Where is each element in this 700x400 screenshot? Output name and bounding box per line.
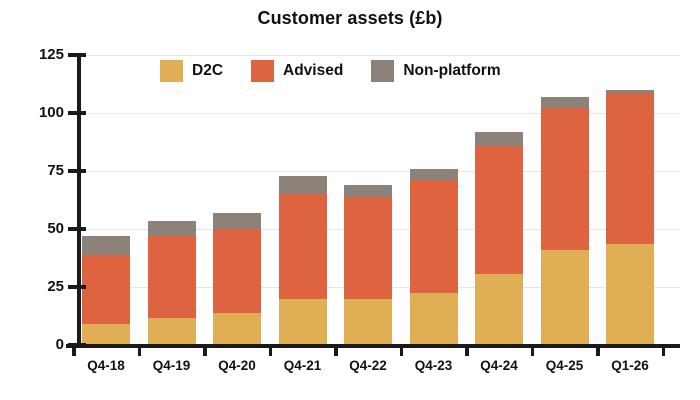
gridline <box>80 113 680 114</box>
bar-segment-advised[interactable] <box>148 236 196 318</box>
bar-stack[interactable] <box>148 221 196 345</box>
bar-stack[interactable] <box>410 169 458 345</box>
bar-segment-d2c[interactable] <box>82 324 130 345</box>
bar-stack[interactable] <box>279 176 327 345</box>
bar-segment-advised[interactable] <box>82 255 130 325</box>
bar-stack[interactable] <box>475 132 523 345</box>
bar-segment-advised[interactable] <box>344 197 392 299</box>
x-axis-tick-label: Q4-20 <box>202 358 272 373</box>
bar-segment-d2c[interactable] <box>475 274 523 345</box>
chart-container: Customer assets (£b) D2CAdvisedNon-platf… <box>0 0 700 400</box>
x-axis-tick <box>72 344 76 356</box>
bar-segment-advised[interactable] <box>213 229 261 313</box>
bar-stack[interactable] <box>541 97 589 345</box>
bar-segment-non-platform[interactable] <box>344 185 392 197</box>
bar-segment-d2c[interactable] <box>279 299 327 345</box>
bar-segment-advised[interactable] <box>410 180 458 293</box>
y-axis-tick-label: 100 <box>4 104 64 121</box>
bar-stack[interactable] <box>82 236 130 345</box>
bar-segment-d2c[interactable] <box>344 299 392 345</box>
x-axis-tick-label: Q4-19 <box>137 358 207 373</box>
y-axis-line <box>77 55 81 346</box>
x-axis-tick-label: Q4-25 <box>530 358 600 373</box>
bar-segment-non-platform[interactable] <box>475 132 523 146</box>
y-axis-tick <box>68 227 86 231</box>
y-axis-tick <box>68 53 86 57</box>
x-axis-tick <box>269 344 273 356</box>
x-axis-tick <box>203 344 207 356</box>
gridline <box>80 55 680 56</box>
bar-stack[interactable] <box>213 213 261 345</box>
bar-segment-advised[interactable] <box>541 108 589 250</box>
bar-segment-d2c[interactable] <box>606 244 654 345</box>
x-axis-tick <box>465 344 469 356</box>
bar-segment-non-platform[interactable] <box>148 221 196 236</box>
bar-segment-d2c[interactable] <box>148 318 196 345</box>
y-axis-tick <box>68 343 86 347</box>
bar-segment-advised[interactable] <box>606 93 654 244</box>
bar-segment-d2c[interactable] <box>541 250 589 345</box>
x-axis-tick <box>400 344 404 356</box>
bar-segment-advised[interactable] <box>475 146 523 275</box>
x-axis-tick <box>596 344 600 356</box>
x-axis-tick-label: Q1-26 <box>595 358 665 373</box>
y-axis-tick <box>68 169 86 173</box>
y-axis-labels: 0255075100125 <box>0 0 64 400</box>
bar-segment-non-platform[interactable] <box>82 236 130 255</box>
bar-segment-d2c[interactable] <box>410 293 458 345</box>
chart-title: Customer assets (£b) <box>0 8 700 29</box>
x-axis-tick <box>662 344 666 356</box>
bar-stack[interactable] <box>606 90 654 345</box>
x-axis-line <box>66 344 680 348</box>
x-axis-tick-label: Q4-18 <box>71 358 141 373</box>
bar-segment-advised[interactable] <box>279 194 327 298</box>
bar-segment-non-platform[interactable] <box>213 213 261 229</box>
x-axis-tick-label: Q4-21 <box>268 358 338 373</box>
x-axis-tick-label: Q4-22 <box>333 358 403 373</box>
y-axis-tick-label: 25 <box>4 278 64 295</box>
y-axis-tick-label: 75 <box>4 162 64 179</box>
x-axis-tick <box>138 344 142 356</box>
bar-segment-non-platform[interactable] <box>279 176 327 195</box>
y-axis-tick-label: 125 <box>4 46 64 63</box>
y-axis-tick-label: 0 <box>4 336 64 353</box>
y-axis-tick-label: 50 <box>4 220 64 237</box>
x-axis-tick-label: Q4-24 <box>464 358 534 373</box>
x-axis-tick <box>334 344 338 356</box>
plot-area <box>80 55 680 345</box>
bar-segment-non-platform[interactable] <box>541 97 589 109</box>
y-axis-tick <box>68 111 86 115</box>
gridline <box>80 171 680 172</box>
bar-segment-non-platform[interactable] <box>410 169 458 181</box>
y-axis-tick <box>68 285 86 289</box>
x-axis-tick <box>531 344 535 356</box>
bar-segment-d2c[interactable] <box>213 313 261 345</box>
bar-stack[interactable] <box>344 185 392 345</box>
x-axis-tick-label: Q4-23 <box>399 358 469 373</box>
